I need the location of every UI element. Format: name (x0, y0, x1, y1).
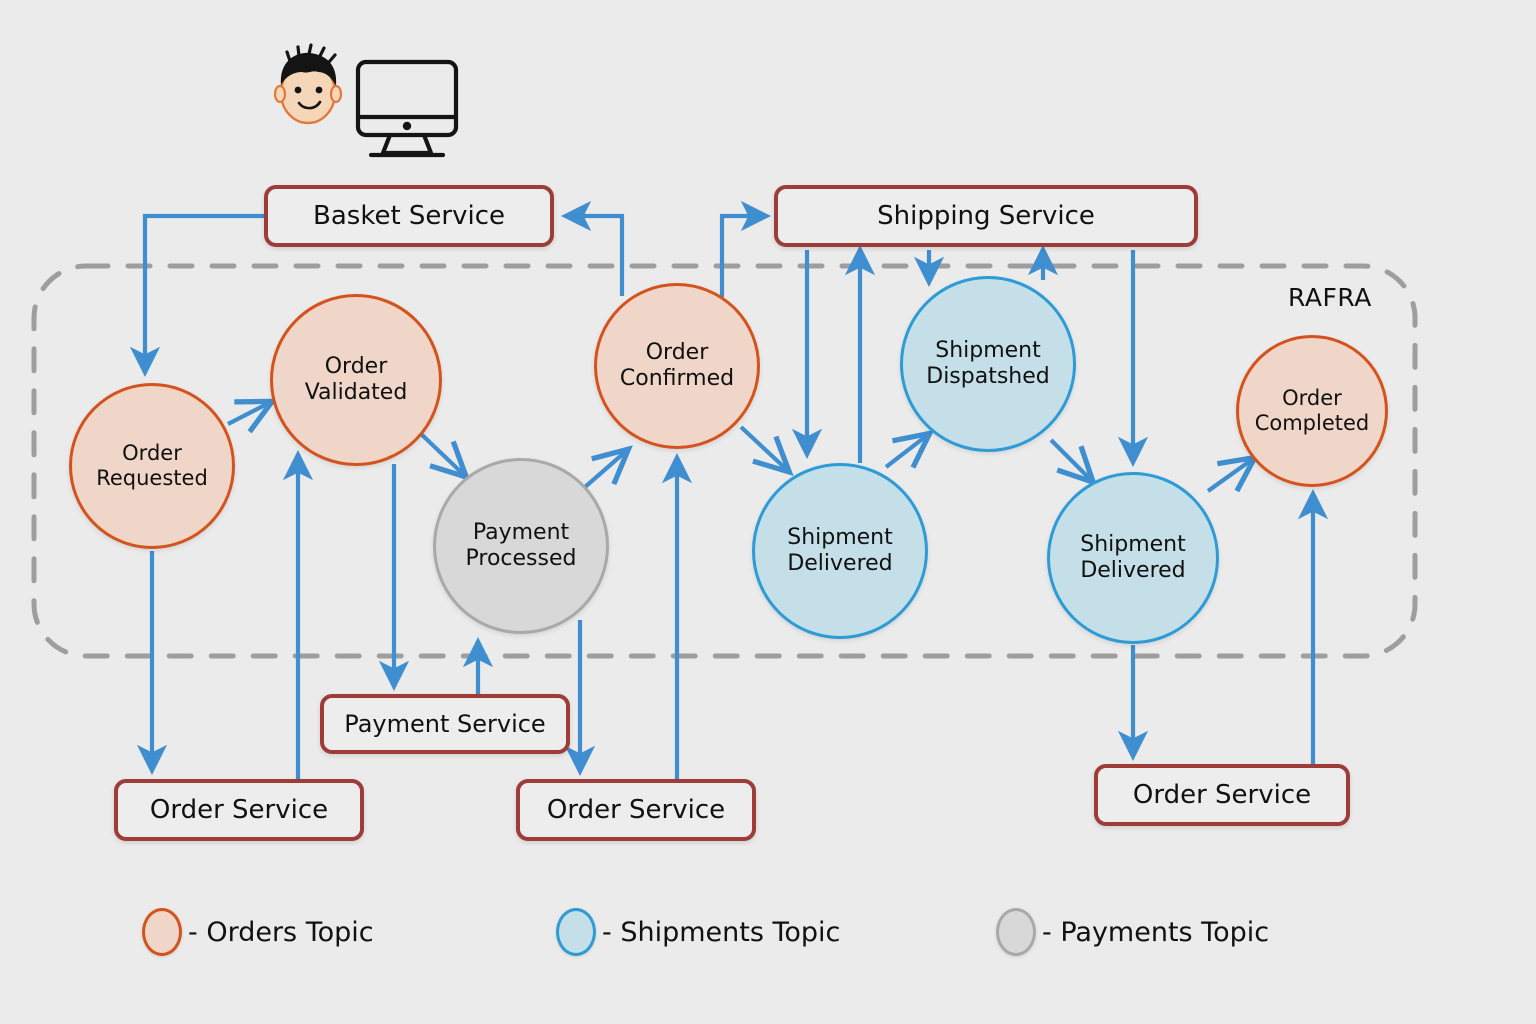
legend-payments: - Payments Topic (996, 908, 1269, 956)
edge-order-requested-to-order-validated (228, 404, 267, 424)
state-node-label-line2: Delivered (781, 551, 899, 577)
edge-shipment-delivered-2-to-completed (1208, 461, 1250, 491)
state-node-label-line1: Order (299, 354, 414, 380)
state-node-label-line1: Payment (460, 520, 583, 546)
state-node-label-line1: Shipment (781, 525, 899, 551)
service-box-basket-service[interactable]: Basket Service (264, 185, 554, 247)
edge-basket-to-order-requested (145, 216, 264, 372)
state-node-payment-processed[interactable]: PaymentProcessed (433, 458, 609, 634)
legend-payments-swatch (996, 908, 1036, 956)
rafra-boundary-label: RAFRA (1288, 283, 1372, 312)
service-box-order-service-left[interactable]: Order Service (114, 779, 364, 841)
state-node-shipment-delivered-1[interactable]: ShipmentDelivered (752, 463, 928, 639)
edge-order-confirmed-to-basket-service (566, 216, 622, 296)
legend-shipments-label: - Shipments Topic (602, 917, 840, 948)
legend-orders-swatch (142, 908, 182, 956)
edge-order-confirmed-to-shipment-delivered (741, 427, 785, 468)
service-box-label: Basket Service (313, 201, 505, 231)
service-box-payment-service[interactable]: Payment Service (320, 694, 570, 754)
service-box-order-service-right[interactable]: Order Service (1094, 764, 1350, 826)
state-node-label-line1: Order (614, 340, 740, 366)
state-node-label-line2: Processed (460, 546, 583, 572)
legend-shipments-swatch (556, 908, 596, 956)
service-box-shipping-service[interactable]: Shipping Service (774, 185, 1198, 247)
state-node-label-line2: Completed (1249, 411, 1376, 436)
edge-dispatshed-to-shipment-delivered-2 (1051, 440, 1089, 478)
actor-group (275, 45, 456, 155)
state-node-order-confirmed[interactable]: OrderConfirmed (594, 283, 760, 449)
legend-orders-label: - Orders Topic (188, 917, 374, 948)
service-box-label: Order Service (547, 795, 725, 825)
desktop-monitor-icon (358, 62, 456, 155)
edge-order-confirmed-to-shipping-service (722, 216, 766, 297)
state-node-label-line2: Dispatshed (920, 364, 1056, 390)
state-node-label-line1: Order (1249, 386, 1376, 411)
service-box-order-service-mid[interactable]: Order Service (516, 779, 756, 841)
state-node-label-line2: Requested (90, 466, 214, 491)
state-node-order-completed[interactable]: OrderCompleted (1236, 335, 1388, 487)
diagram-canvas: OrderRequestedOrderValidatedPaymentProce… (0, 0, 1536, 1024)
service-box-label: Payment Service (344, 710, 545, 738)
state-node-label-line1: Shipment (1074, 532, 1192, 558)
state-node-order-validated[interactable]: OrderValidated (270, 294, 442, 466)
legend-shipments: - Shipments Topic (556, 908, 840, 956)
state-node-shipment-dispatshed[interactable]: ShipmentDispatshed (900, 276, 1076, 452)
state-node-shipment-delivered-2[interactable]: ShipmentDelivered (1047, 472, 1219, 644)
state-node-label-line1: Shipment (920, 338, 1056, 364)
service-box-label: Shipping Service (877, 201, 1095, 231)
state-node-label-line1: Order (90, 441, 214, 466)
edge-order-validated-to-payment-processed (419, 432, 462, 473)
edge-shipment-delivered-1-to-dispatshed (886, 437, 925, 467)
state-node-label-line2: Delivered (1074, 558, 1192, 584)
legend: - Orders Topic- Shipments Topic- Payment… (0, 880, 1536, 990)
legend-payments-label: - Payments Topic (1042, 917, 1269, 948)
state-node-order-requested[interactable]: OrderRequested (69, 383, 235, 549)
legend-orders: - Orders Topic (142, 908, 374, 956)
person-head-icon (275, 45, 341, 123)
service-box-label: Order Service (1133, 780, 1311, 810)
state-node-label-line2: Validated (299, 380, 414, 406)
state-node-label-line2: Confirmed (614, 366, 740, 392)
edge-payment-processed-to-order-confirmed (585, 453, 624, 487)
service-box-label: Order Service (150, 795, 328, 825)
